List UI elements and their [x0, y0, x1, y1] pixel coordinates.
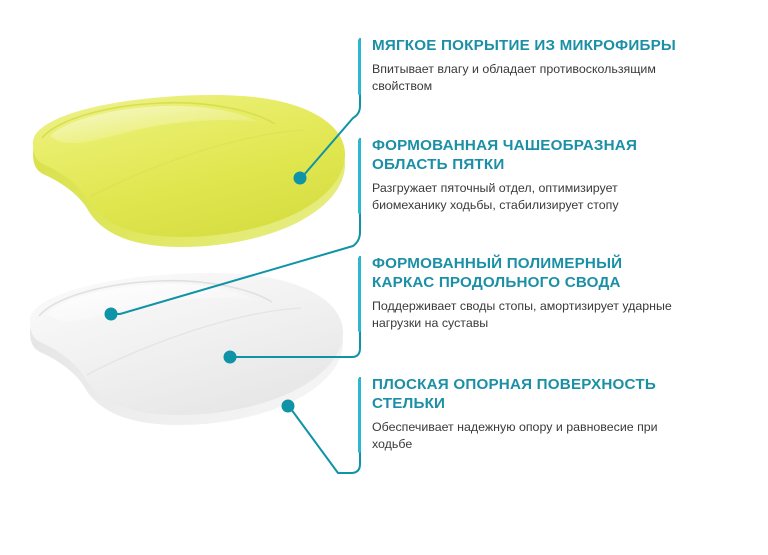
accent-bar-icon: [358, 39, 361, 95]
feature-title: МЯГКОЕ ПОКРЫТИЕ ИЗ МИКРОФИБРЫ: [372, 36, 688, 55]
callout-dot-microfiber: [294, 172, 307, 185]
feature-block-microfiber: МЯГКОЕ ПОКРЫТИЕ ИЗ МИКРОФИБРЫ Впитывает …: [358, 36, 688, 95]
accent-bar-icon: [358, 139, 361, 214]
accent-bar-icon: [358, 257, 361, 332]
yellow-insole: [33, 95, 345, 247]
accent-bar-icon: [358, 378, 361, 453]
callout-dot-heel-cup: [105, 308, 118, 321]
feature-description: Обеспечивает надежную опору и равновесие…: [372, 419, 688, 453]
feature-title: ФОРМОВАННЫЙ ПОЛИМЕРНЫЙ КАРКАС ПРОДОЛЬНОГ…: [372, 254, 688, 292]
feature-title: ПЛОСКАЯ ОПОРНАЯ ПОВЕРХНОСТЬ СТЕЛЬКИ: [372, 375, 688, 413]
feature-title: ФОРМОВАННАЯ ЧАШЕОБРАЗНАЯ ОБЛАСТЬ ПЯТКИ: [372, 136, 688, 174]
callout-dot-arch-frame: [224, 351, 237, 364]
feature-block-arch-frame: ФОРМОВАННЫЙ ПОЛИМЕРНЫЙ КАРКАС ПРОДОЛЬНОГ…: [358, 254, 688, 332]
feature-description: Разгружает пяточный отдел, оптимизирует …: [372, 180, 688, 214]
grey-insole: [30, 273, 343, 425]
infographic-root: МЯГКОЕ ПОКРЫТИЕ ИЗ МИКРОФИБРЫ Впитывает …: [0, 0, 768, 555]
feature-block-flat-surface: ПЛОСКАЯ ОПОРНАЯ ПОВЕРХНОСТЬ СТЕЛЬКИ Обес…: [358, 375, 688, 453]
feature-description: Поддерживает своды стопы, амортизирует у…: [372, 298, 688, 332]
callout-dot-flat-surface: [282, 400, 295, 413]
feature-description: Впитывает влагу и обладает противоскольз…: [372, 61, 688, 95]
feature-block-heel-cup: ФОРМОВАННАЯ ЧАШЕОБРАЗНАЯ ОБЛАСТЬ ПЯТКИ Р…: [358, 136, 688, 214]
